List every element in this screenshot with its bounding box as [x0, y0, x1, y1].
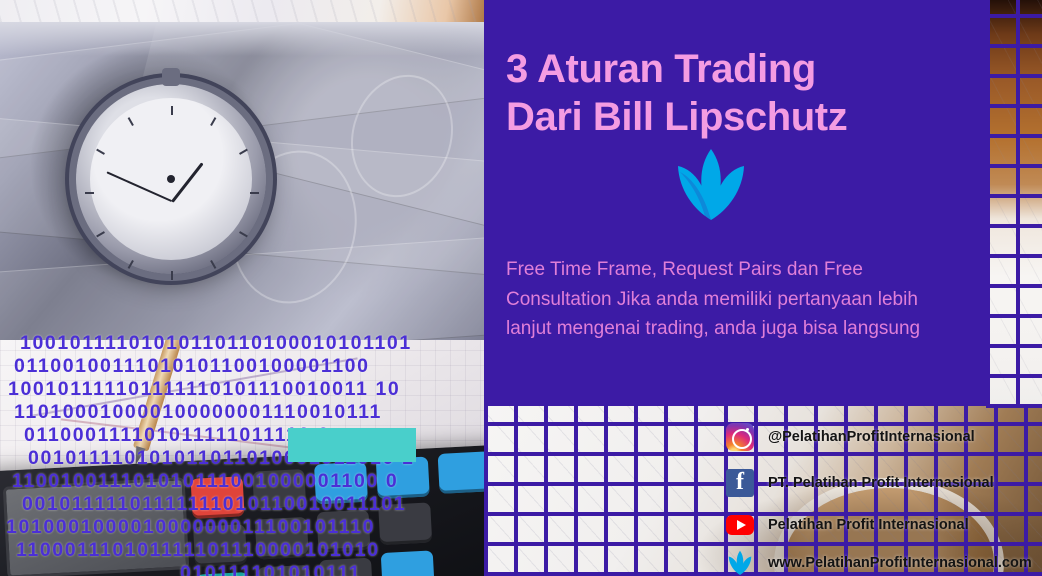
photo-top-blur — [0, 22, 484, 56]
binary-line: 01100100111010101100100001100 — [0, 355, 484, 378]
watch-tick — [250, 192, 259, 194]
lotus-logo — [670, 146, 752, 224]
watch-minute-hand — [106, 172, 172, 203]
contact-row-youtube[interactable]: Pelatihan Profit Internasional — [726, 508, 969, 542]
contact-row-instagram[interactable]: @PelatihanProfitInternasional — [726, 420, 975, 454]
watch-hour-hand — [171, 162, 203, 202]
right-purple-panel: 3 Aturan Trading Dari Bill Lipschutz Fre… — [484, 0, 1042, 576]
headline-line-1: 3 Aturan Trading — [506, 47, 816, 91]
binary-line: 00101111101111111010110010011101 — [0, 493, 484, 516]
lotus-icon[interactable] — [726, 549, 754, 576]
binary-line: 010111101010111 — [0, 562, 484, 576]
watch-crown — [162, 68, 180, 86]
binary-line: 110010011101010111001000001100 0 — [0, 470, 484, 493]
facebook-icon[interactable]: f — [726, 469, 754, 497]
watch-tick — [171, 271, 173, 280]
instagram-handle: @PelatihanProfitInternasional — [768, 429, 975, 445]
body-paragraph: Free Time Frame, Request Pairs dan Free … — [506, 255, 968, 344]
contact-row-facebook[interactable]: f PT. Pelatihan Profit Internasional — [726, 466, 994, 500]
instagram-icon[interactable] — [726, 423, 754, 451]
watch-tick — [239, 231, 248, 237]
binary-line: 110001110101111101110000101010 — [0, 539, 484, 562]
contact-row-website[interactable]: www.PelatihanProfitInternasional.com — [726, 546, 1032, 576]
watch-tick — [128, 117, 134, 126]
binary-line: 110100010000100000001110010111 — [0, 401, 484, 424]
facebook-page-name: PT. Pelatihan Profit Internasional — [768, 475, 994, 491]
watch-center-pin — [167, 175, 175, 183]
edge-grid-overlay — [986, 0, 1042, 408]
watch-tick — [171, 106, 173, 115]
contact-list: @PelatihanProfitInternasional f PT. Pela… — [484, 404, 1042, 576]
watch-tick — [239, 149, 248, 155]
binary-line: 101000100001000000011100101110 — [0, 516, 484, 539]
money-and-watch-photo — [0, 22, 484, 340]
website-url: www.PelatihanProfitInternasional.com — [768, 555, 1032, 571]
binary-line: 100101111101111110101110010011 10 — [0, 378, 484, 401]
watch-tick — [85, 192, 94, 194]
poster-canvas: 10010111101010110110100010101101 0110010… — [0, 0, 1042, 576]
youtube-channel-name: Pelatihan Profit Internasional — [768, 517, 969, 533]
watch-tick — [96, 149, 105, 155]
left-photo-column: 10010111101010110110100010101101 0110010… — [0, 0, 484, 576]
pocket-watch — [76, 84, 266, 274]
watch-tick — [210, 117, 216, 126]
top-desk-photo-strip — [0, 0, 484, 22]
teal-accent-rectangle — [288, 428, 416, 462]
page-title: 3 Aturan Trading Dari Bill Lipschutz — [506, 45, 986, 141]
headline-line-2: Dari Bill Lipschutz — [506, 93, 986, 141]
watch-tick — [96, 231, 105, 237]
youtube-icon[interactable] — [726, 515, 754, 535]
watch-face — [90, 98, 252, 260]
binary-line: 10010111101010110110100010101101 — [0, 332, 484, 355]
